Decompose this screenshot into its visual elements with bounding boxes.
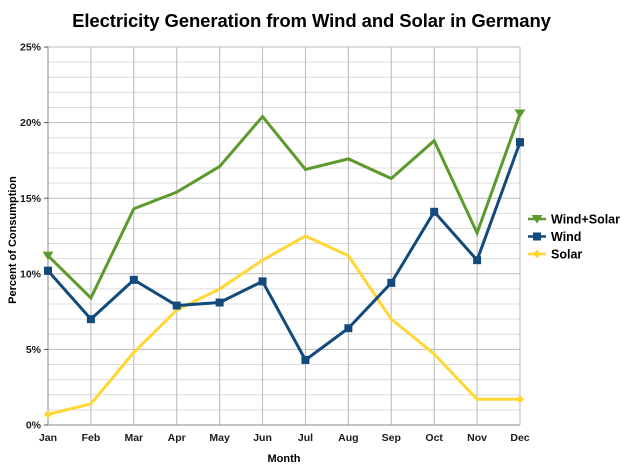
x-tick-label: Apr [168, 432, 186, 444]
x-tick-label: Oct [425, 432, 443, 444]
y-tick-label: 0% [26, 420, 42, 432]
series-marker [430, 208, 438, 216]
series-marker [216, 299, 224, 307]
series-marker [387, 279, 395, 287]
y-tick-label: 10% [20, 268, 42, 280]
x-tick-label: Jan [39, 432, 57, 444]
y-axis-title: Percent of Consumption [7, 176, 19, 304]
legend-label: Wind+Solar [551, 213, 620, 227]
series-marker [87, 315, 95, 323]
x-tick-label: Jul [298, 432, 313, 444]
legend-label: Solar [551, 248, 582, 262]
x-tick-label: Sep [382, 432, 401, 444]
chart-container: Electricity Generation from Wind and Sol… [0, 0, 623, 467]
series-line [48, 236, 520, 414]
data-series [44, 236, 524, 419]
wind-markers [44, 138, 524, 364]
y-tick-label: 25% [20, 42, 42, 54]
x-tick-label: Feb [82, 432, 101, 444]
series-marker [516, 138, 524, 146]
x-tick-label: Aug [338, 432, 358, 444]
x-axis-tick-labels: JanFebMarAprMayJunJulAugSepOctNovDec [39, 432, 530, 444]
series-marker [259, 277, 267, 285]
series-marker [344, 324, 352, 332]
legend-marker [533, 250, 541, 258]
series-marker [516, 395, 524, 403]
x-tick-label: Dec [510, 432, 529, 444]
series-line [48, 114, 520, 298]
series-marker [130, 276, 138, 284]
y-axis-tick-labels: 0%5%10%15%20%25% [20, 42, 48, 432]
x-tick-label: Mar [124, 432, 143, 444]
line-chart-plot: 0%5%10%15%20%25% JanFebMarAprMayJunJulAu… [0, 0, 623, 467]
series-marker [173, 302, 181, 310]
legend-label: Wind [551, 230, 581, 244]
y-tick-label: 20% [20, 117, 42, 129]
series-marker [473, 256, 481, 264]
series-marker [301, 356, 309, 364]
y-tick-label: 5% [26, 344, 42, 356]
series-marker [44, 410, 52, 418]
data-series-layer [43, 110, 526, 419]
x-tick-label: Jun [253, 432, 272, 444]
x-tick-label: Nov [467, 432, 487, 444]
y-tick-label: 15% [20, 193, 42, 205]
series-marker [515, 110, 526, 119]
legend-marker [533, 233, 541, 241]
x-axis-title: Month [268, 453, 301, 465]
series-marker [44, 267, 52, 275]
x-tick-label: May [209, 432, 230, 444]
chart-legend: Wind+SolarWindSolar [528, 213, 620, 262]
